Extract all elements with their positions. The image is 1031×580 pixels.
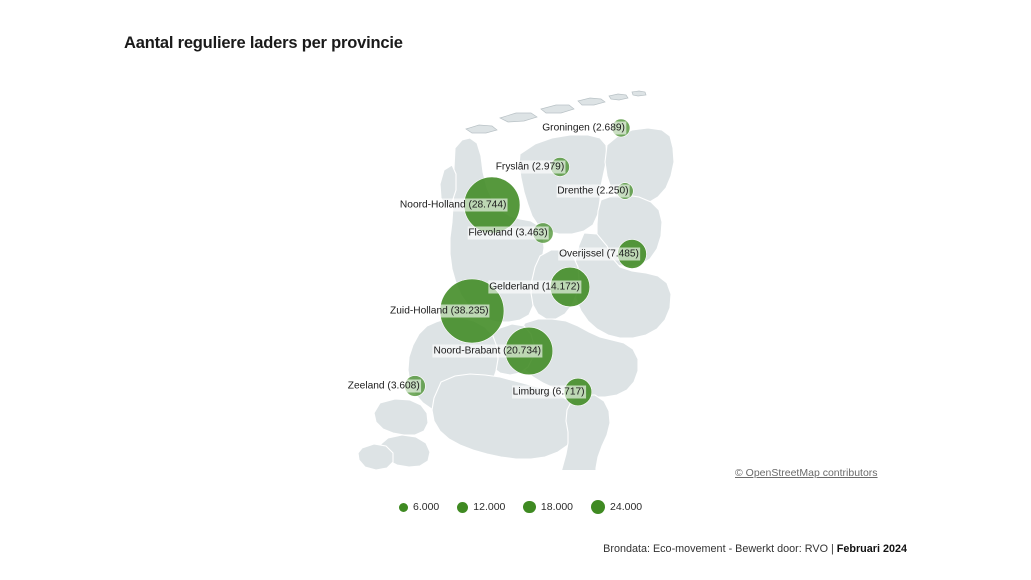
province-zeeland: [358, 399, 430, 470]
map-label-frysl-n: Fryslân (2.979): [495, 161, 566, 174]
legend-label: 6.000: [413, 501, 439, 513]
choropleth-bubble-map: Groningen (2.689)Fryslân (2.979)Drenthe …: [0, 70, 1031, 470]
page-title: Aantal reguliere laders per provincie: [124, 34, 403, 53]
map-label-groningen: Groningen (2.689): [541, 122, 626, 135]
map-label-limburg: Limburg (6.717): [512, 386, 586, 399]
map-label-overijssel: Overijssel (7.485): [558, 248, 640, 261]
legend-circle-icon: [591, 500, 605, 514]
netherlands-map-svg: [0, 70, 1031, 470]
legend-item: 12.000: [457, 501, 505, 513]
footer-source-text: Brondata: Eco-movement - Bewerkt door: R…: [603, 543, 837, 555]
map-label-zeeland: Zeeland (3.608): [347, 380, 421, 393]
footer-period: Februari 2024: [837, 543, 907, 555]
legend-item: 18.000: [523, 501, 573, 514]
legend-label: 24.000: [610, 501, 642, 513]
map-label-noord-brabant: Noord-Brabant (20.734): [432, 345, 542, 358]
footer-source-note: Brondata: Eco-movement - Bewerkt door: R…: [603, 543, 907, 555]
legend-label: 12.000: [473, 501, 505, 513]
map-label-flevoland: Flevoland (3.463): [467, 227, 548, 240]
openstreetmap-attribution-link[interactable]: © OpenStreetMap contributors: [735, 467, 878, 479]
legend-label: 18.000: [541, 501, 573, 513]
legend-circle-icon: [523, 501, 536, 514]
map-label-gelderland: Gelderland (14.172): [488, 281, 581, 294]
map-label-zuid-holland: Zuid-Holland (38.235): [389, 305, 490, 318]
map-label-noord-holland: Noord-Holland (28.744): [399, 199, 507, 212]
map-label-drenthe: Drenthe (2.250): [556, 185, 629, 198]
size-legend: 6.00012.00018.00024.000: [399, 500, 642, 514]
legend-item: 6.000: [399, 501, 439, 513]
legend-circle-icon: [399, 503, 408, 512]
legend-circle-icon: [457, 502, 468, 513]
legend-item: 24.000: [591, 500, 642, 514]
